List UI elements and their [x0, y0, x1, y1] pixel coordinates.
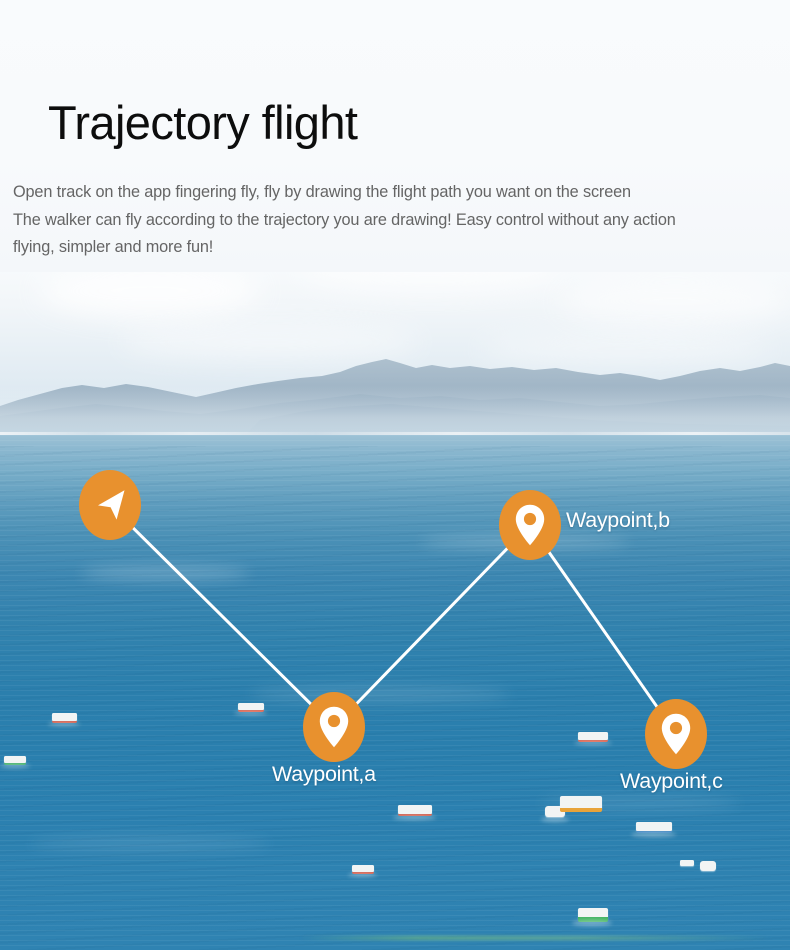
boat: [52, 713, 77, 721]
cloud: [560, 276, 790, 326]
cloud: [40, 264, 260, 318]
boat: [398, 805, 432, 814]
boat: [578, 908, 608, 920]
boat: [238, 703, 264, 710]
boat: [636, 822, 672, 831]
map-pin-icon: [319, 706, 349, 748]
trajectory-flight-page: Trajectory flight Open track on the app …: [0, 0, 790, 950]
boat: [352, 865, 374, 872]
description-text: Open track on the app fingering fly, fly…: [13, 179, 790, 262]
map-pin-icon: [661, 713, 691, 755]
mountain-ridge: [0, 354, 790, 440]
description-line-2: The walker can fly according to the traj…: [13, 207, 790, 235]
boat: [560, 796, 602, 810]
description-line-1: Open track on the app fingering fly, fly…: [13, 179, 790, 207]
boat: [680, 860, 694, 866]
map-pin-icon: [515, 504, 545, 546]
boat-wake: [631, 832, 676, 837]
algae-streak: [300, 936, 770, 940]
waypoint-marker-c[interactable]: [645, 699, 707, 769]
boat-wake: [393, 815, 436, 820]
boat-wake: [574, 741, 612, 745]
description-line-3: flying, simpler and more fun!: [13, 234, 790, 262]
boat-wake: [572, 920, 612, 926]
boat: [4, 756, 26, 763]
boat-wake: [348, 873, 377, 877]
ocean-photo: [0, 236, 790, 950]
boat: [578, 732, 608, 740]
boat-wake: [0, 764, 30, 768]
navigation-arrow-icon: [91, 488, 129, 522]
boat-wake: [541, 817, 569, 822]
boat-wake: [234, 711, 267, 715]
page-title: Trajectory flight: [48, 95, 357, 151]
flight-start-marker[interactable]: [79, 470, 141, 540]
boat: [700, 861, 716, 871]
waypoint-marker-a[interactable]: [303, 692, 365, 762]
boat-wake: [48, 722, 80, 726]
header-section: Trajectory flight Open track on the app …: [0, 0, 790, 272]
waypoint-marker-b[interactable]: [499, 490, 561, 560]
